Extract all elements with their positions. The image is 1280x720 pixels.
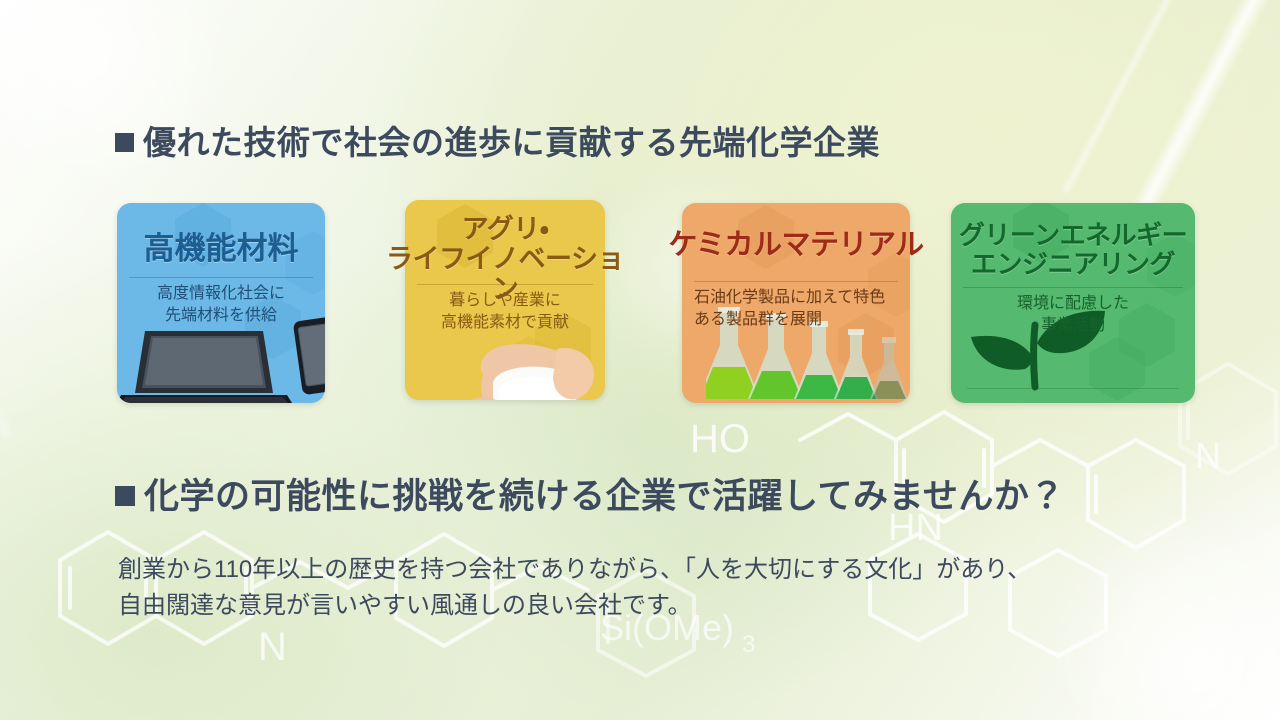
card-divider <box>417 284 593 285</box>
card-divider <box>129 277 313 278</box>
section-heading-business: 優れた技術で社会の進歩に貢献する先端化学企業 <box>115 116 880 164</box>
business-card-chemical-materials[interactable]: ケミカルマテリアル 石油化学製品に加えて特色 ある製品群を展開 <box>682 203 910 403</box>
slide-canvas: N Si(OMe) 3 HO HN N <box>0 0 1280 720</box>
section-heading-recruit: 化学の可能性に挑戦を続ける企業で活躍してみませんか？ <box>115 468 1065 519</box>
molecule-label-HO: HO <box>690 417 750 461</box>
card-subtitle: 暮らしや産業に 高機能素材で貢献 <box>409 290 601 334</box>
section-heading-business-text: 優れた技術で社会の進歩に貢献する先端化学企業 <box>143 124 880 161</box>
card-subtitle: 環境に配慮した 事業活動 <box>955 293 1191 337</box>
card-bottom-divider <box>967 388 1179 389</box>
card-divider <box>694 281 898 282</box>
molecule-label-N: N <box>258 625 287 669</box>
business-card-high-performance-materials[interactable]: 高機能材料 高度情報化社会に 先端材料を供給 <box>117 203 325 403</box>
square-bullet-icon <box>115 486 135 506</box>
company-description-text: 創業から110年以上の歴史を持つ会社でありながら、「人を大切にする文化」があり、… <box>118 552 1198 624</box>
molecule-label-N-right: N <box>1195 435 1221 476</box>
card-divider <box>963 287 1183 288</box>
laptop-and-smartphone-image <box>117 317 325 403</box>
molecule-label-subscript-3: 3 <box>742 631 755 658</box>
light-streak <box>0 160 14 440</box>
card-subtitle: 石油化学製品に加えて特色 ある製品群を展開 <box>694 287 906 331</box>
business-card-green-energy-engineering[interactable]: グリーンエネルギー エンジニアリング 環境に配慮した 事業活動 <box>951 203 1195 403</box>
business-card-agri-life-innovation[interactable]: アグリ・ ライフイノベーション 暮らしや産業に 高機能素材で貢献 <box>405 200 605 400</box>
square-bullet-icon <box>115 133 134 152</box>
card-subtitle: 高度情報化社会に 先端材料を供給 <box>121 283 321 327</box>
card-title: 高機能材料 <box>87 232 355 267</box>
light-streak <box>1061 0 1210 195</box>
card-title: ケミカルマテリアル <box>652 229 940 261</box>
light-streak <box>1120 0 1280 237</box>
card-title: グリーンエネルギー エンジニアリング <box>921 221 1225 279</box>
section-heading-recruit-text: 化学の可能性に挑戦を続ける企業で活躍してみませんか？ <box>144 477 1065 516</box>
